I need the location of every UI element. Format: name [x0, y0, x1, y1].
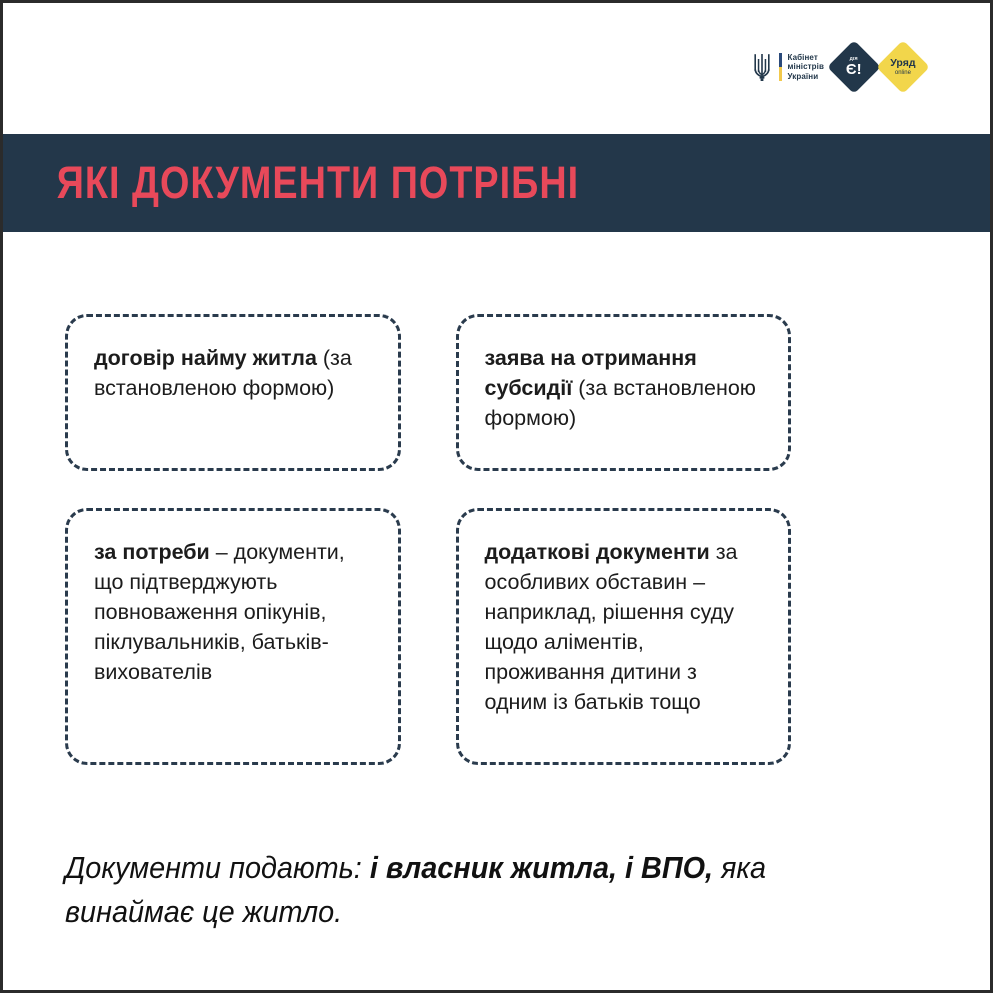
- uryad-badge-sub-label: online: [890, 70, 915, 76]
- document-card-subsidy-application: заява на отримання субсидії (за встановл…: [456, 314, 792, 471]
- flag-divider: [779, 53, 782, 81]
- card-title: договір найму житла: [94, 346, 317, 370]
- card-body: за особливих обставин – наприклад, рішен…: [485, 540, 738, 714]
- card-row-2: за потреби – документи, що підтверджують…: [65, 508, 791, 765]
- footer-note: Документи подають: і власник житла, і ВП…: [65, 846, 865, 934]
- logo-strip: Кабінет міністрів України ДІЯ Є! Уряд on…: [3, 3, 990, 131]
- document-card-guardianship-proof: за потреби – документи, що підтверджують…: [65, 508, 401, 765]
- document-card-rental-agreement: договір найму житла (за встановленою фор…: [65, 314, 401, 471]
- ukraine-trident-icon: [751, 51, 773, 83]
- card-text: заява на отримання субсидії (за встановл…: [485, 343, 765, 433]
- logo-group: Кабінет міністрів України ДІЯ Є! Уряд on…: [751, 48, 923, 86]
- card-text: за потреби – документи, що підтверджують…: [94, 537, 374, 687]
- uryad-badge-main-label: Уряд: [890, 58, 915, 69]
- uryad-online-badge-inner: Уряд online: [890, 58, 915, 76]
- card-text: договір найму житла (за встановленою фор…: [94, 343, 374, 403]
- card-title: додаткові документи: [485, 540, 710, 564]
- diia-badge-main-label: Є!: [846, 62, 862, 77]
- cabinet-of-ministers-logo: Кабінет міністрів України: [751, 51, 825, 83]
- card-title: за потреби: [94, 540, 210, 564]
- cabinet-of-ministers-label: Кабінет міністрів України: [788, 53, 825, 81]
- document-card-additional-documents: додаткові документи за особливих обстави…: [456, 508, 792, 765]
- title-band: ЯКІ ДОКУМЕНТИ ПОТРІБНІ: [3, 134, 990, 232]
- diia-badge: ДІЯ Є!: [827, 40, 881, 94]
- card-row-1: договір найму житла (за встановленою фор…: [65, 314, 791, 471]
- infographic-slide: Кабінет міністрів України ДІЯ Є! Уряд on…: [0, 0, 993, 993]
- diia-badge-inner: ДІЯ Є!: [846, 57, 862, 77]
- footer-emphasis: і власник житла, і ВПО,: [362, 850, 713, 885]
- documents-card-grid: договір найму житла (за встановленою фор…: [65, 314, 791, 765]
- card-text: додаткові документи за особливих обстави…: [485, 537, 765, 717]
- footer-lead: Документи подають:: [65, 850, 362, 885]
- uryad-online-badge: Уряд online: [876, 40, 930, 94]
- page-title: ЯКІ ДОКУМЕНТИ ПОТРІБНІ: [3, 157, 579, 209]
